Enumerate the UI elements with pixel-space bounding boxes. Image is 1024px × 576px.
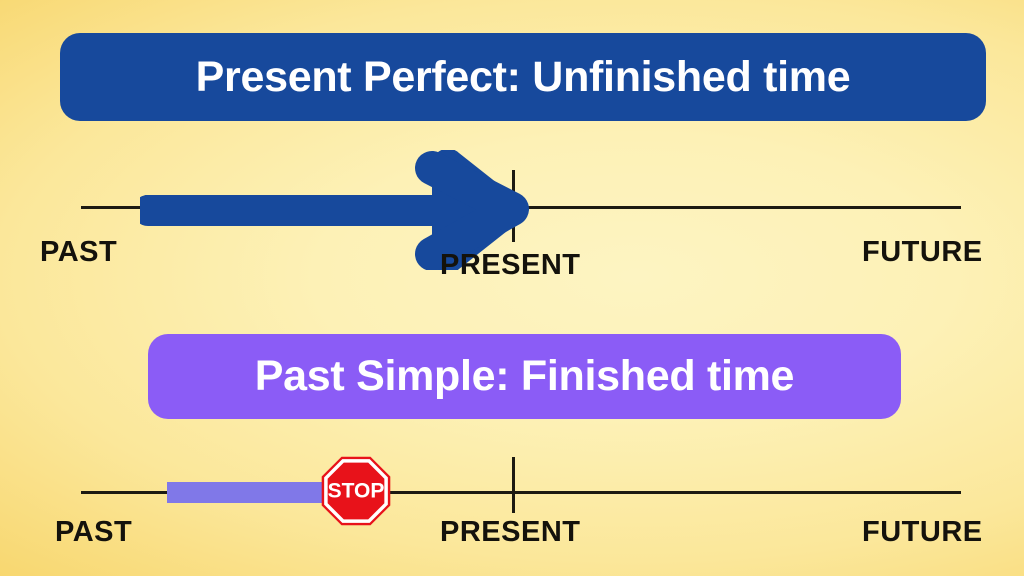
stop-sign-text: STOP (328, 480, 385, 503)
banner-past-simple: Past Simple: Finished time (148, 334, 901, 419)
timeline-label-future: FUTURE (862, 236, 983, 269)
finished-time-bar (167, 482, 335, 503)
banner-present-perfect: Present Perfect: Unfinished time (60, 33, 986, 121)
slide-canvas: Present Perfect: Unfinished time PAST PR… (0, 0, 1024, 576)
present-tick-mark (512, 457, 515, 513)
timeline-label-past: PAST (55, 516, 132, 549)
timeline-label-past: PAST (40, 236, 117, 269)
timeline-label-future: FUTURE (862, 516, 983, 549)
timeline-label-present: PRESENT (440, 249, 580, 282)
timeline-present-perfect: PAST PRESENT FUTURE (0, 150, 1024, 290)
timeline-past-simple: STOP PAST PRESENT FUTURE (0, 440, 1024, 576)
banner-past-simple-text: Past Simple: Finished time (255, 352, 794, 401)
stop-sign-icon: STOP (320, 456, 392, 526)
banner-present-perfect-text: Present Perfect: Unfinished time (196, 53, 851, 102)
timeline-label-present: PRESENT (440, 516, 580, 549)
